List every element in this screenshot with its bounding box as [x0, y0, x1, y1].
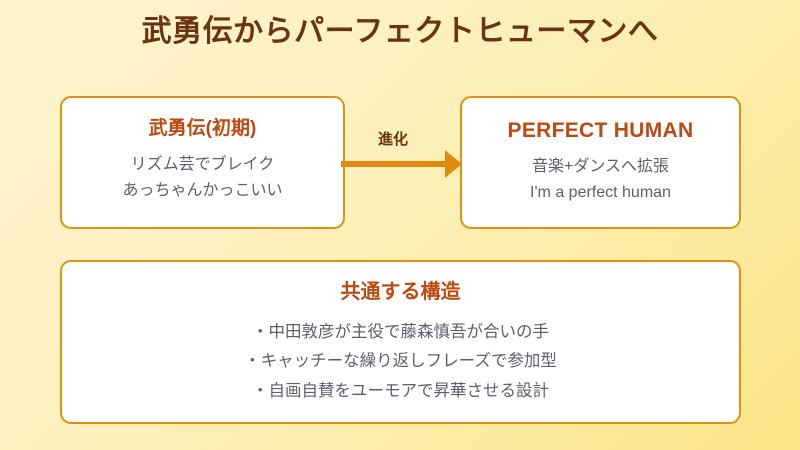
card-shared-structure: 共通する構造 ・中田敦彦が主役で藤森慎吾が合いの手 ・キャッチーな繰り返しフレー…: [60, 260, 741, 424]
card-perfect-human: PERFECT HUMAN 音楽+ダンスへ拡張 I'm a perfect hu…: [460, 96, 741, 229]
card-line: リズム芸でブレイク: [62, 152, 343, 178]
card-body-shared-structure: ・中田敦彦が主役で藤森慎吾が合いの手 ・キャッチーな繰り返しフレーズで参加型 ・…: [62, 318, 739, 406]
arrow-shaft: [341, 161, 447, 167]
card-body-perfect-human: 音楽+ダンスへ拡張 I'm a perfect human: [462, 154, 739, 206]
arrow-label-evolution: 進化: [341, 131, 445, 149]
page-title: 武勇伝からパーフェクトヒューマンへ: [0, 14, 800, 50]
slide-canvas: 武勇伝からパーフェクトヒューマンへ 武勇伝(初期) リズム芸でブレイク あっちゃ…: [0, 0, 800, 450]
card-line: 音楽+ダンスへ拡張: [462, 154, 739, 180]
card-buyuden-early: 武勇伝(初期) リズム芸でブレイク あっちゃんかっこいい: [60, 96, 345, 229]
list-item: ・中田敦彦が主役で藤森慎吾が合いの手: [62, 318, 739, 347]
card-body-buyuden: リズム芸でブレイク あっちゃんかっこいい: [62, 152, 343, 204]
card-heading-shared-structure: 共通する構造: [62, 280, 739, 304]
evolution-arrow: 進化: [341, 131, 462, 181]
card-line: あっちゃんかっこいい: [62, 178, 343, 204]
card-heading-buyuden: 武勇伝(初期): [62, 118, 343, 141]
card-heading-perfect-human: PERFECT HUMAN: [462, 118, 739, 143]
list-item: ・自画自賛をユーモアで昇華させる設計: [62, 377, 739, 406]
card-line: I'm a perfect human: [462, 180, 739, 206]
list-item: ・キャッチーな繰り返しフレーズで参加型: [62, 347, 739, 376]
